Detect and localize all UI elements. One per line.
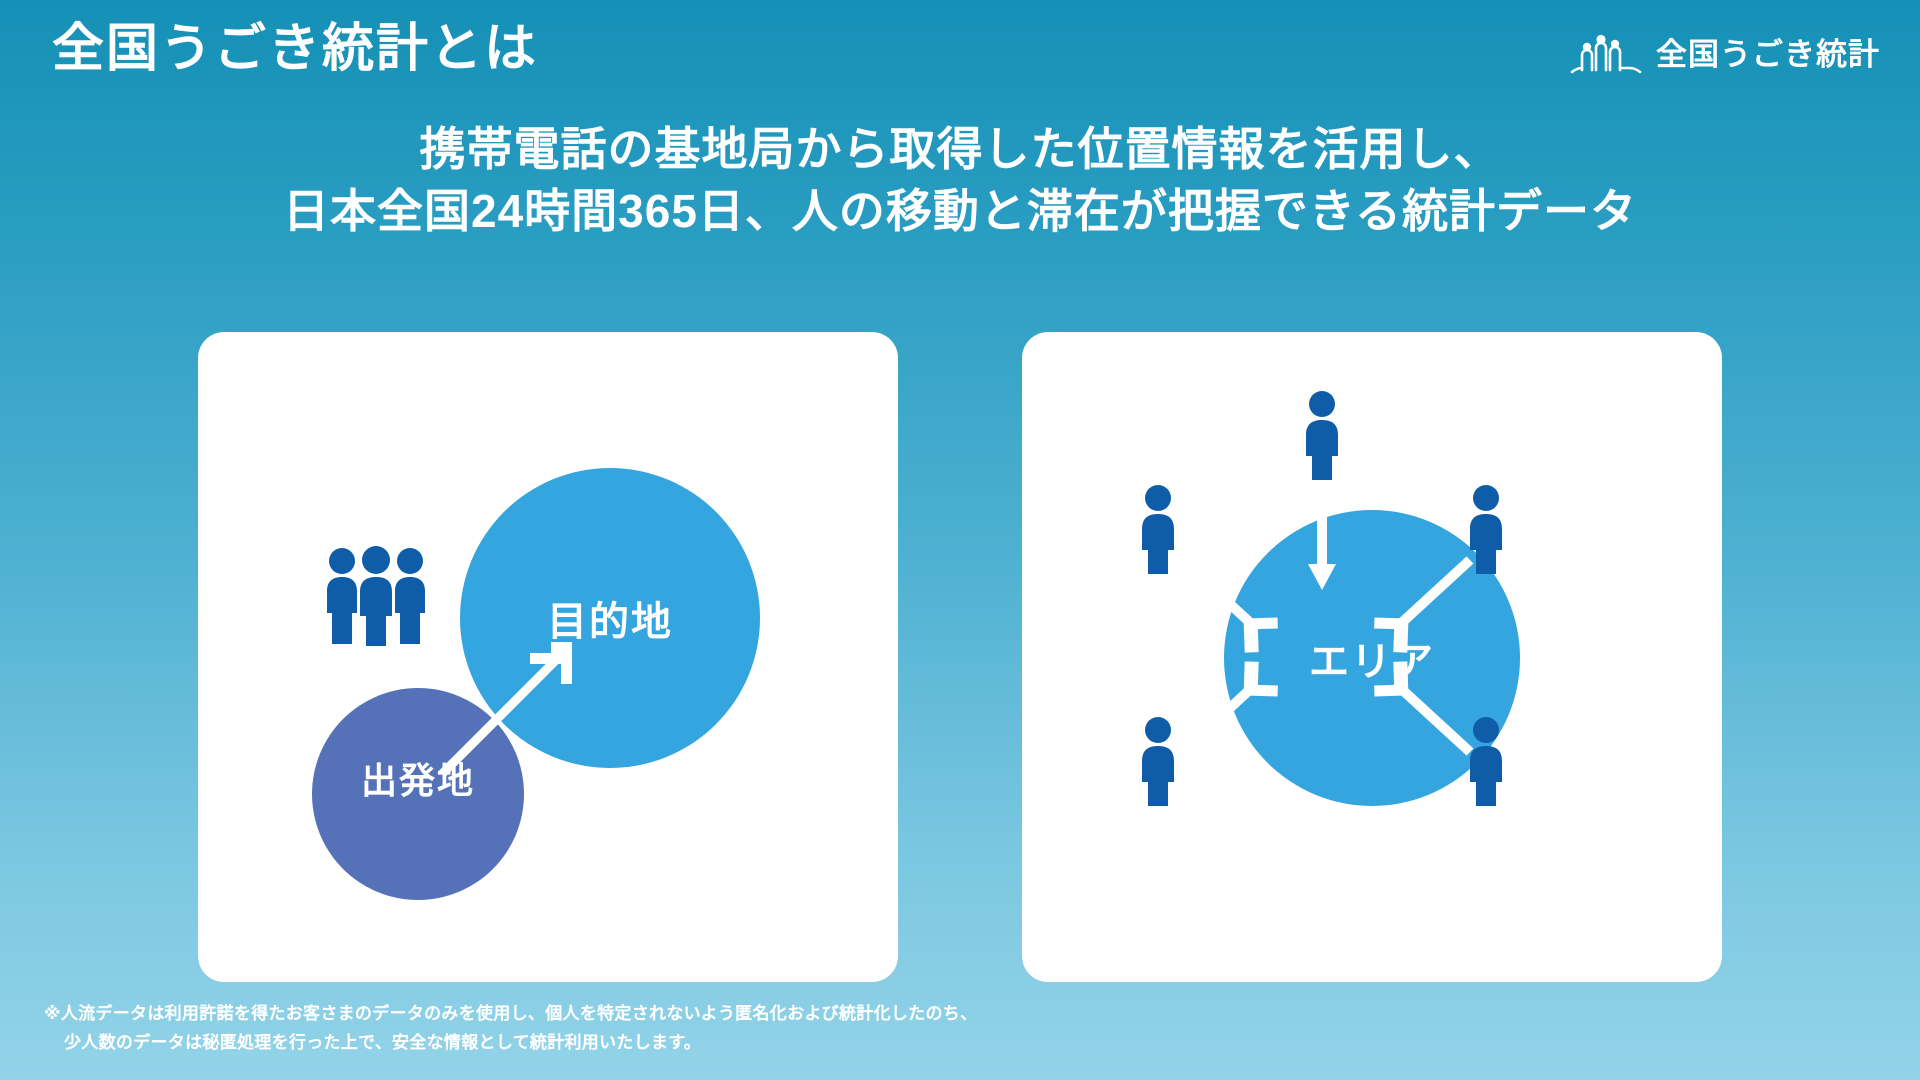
page-subtitle: 携帯電話の基地局から取得した位置情報を活用し、 日本全国24時間365日、人の移…	[0, 118, 1920, 242]
person-icon	[1130, 716, 1186, 806]
person-icon	[1130, 484, 1186, 574]
page-title: 全国うごき統計とは	[52, 18, 538, 80]
person-icon	[1458, 484, 1514, 574]
destination-label: 目的地	[547, 589, 673, 647]
people-arch-icon	[1570, 28, 1642, 74]
destination-circle: 目的地	[460, 468, 760, 768]
person-icon	[1458, 716, 1514, 806]
page-header: 全国うごき統計とは 全国うごき統計	[0, 0, 1920, 110]
area-label: エリア	[1309, 629, 1435, 687]
logo-text: 全国うごき統計	[1656, 29, 1880, 74]
footnote-line-1: ※人流データは利用許諾を得たお客さまのデータのみを使用し、個人を特定されないよう…	[44, 1000, 977, 1029]
area-stay-card: エリア	[1022, 332, 1722, 982]
footnote-line-2: 少人数のデータは秘匿処理を行った上で、安全な情報として統計利用いたします。	[44, 1029, 977, 1058]
origin-label: 出発地	[361, 752, 475, 804]
footnote: ※人流データは利用許諾を得たお客さまのデータのみを使用し、個人を特定されないよう…	[44, 1000, 977, 1058]
diagram-cards: 目的地 出発地	[0, 332, 1920, 982]
person-icon	[1294, 390, 1350, 480]
subtitle-line-2: 日本全国24時間365日、人の移動と滞在が把握できる統計データ	[0, 180, 1920, 242]
movement-diagram-card: 目的地 出発地	[198, 332, 898, 982]
origin-circle: 出発地	[312, 688, 524, 900]
brand-logo: 全国うごき統計	[1570, 28, 1880, 74]
subtitle-line-1: 携帯電話の基地局から取得した位置情報を活用し、	[0, 118, 1920, 180]
three-people-icon	[322, 546, 432, 646]
